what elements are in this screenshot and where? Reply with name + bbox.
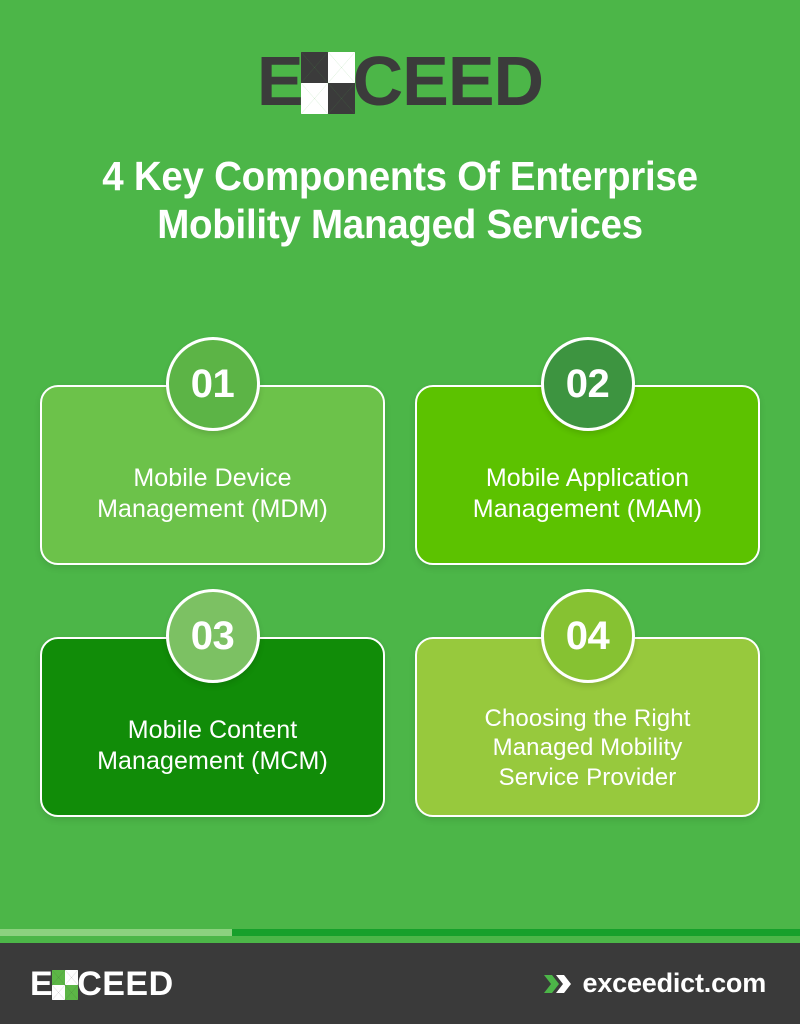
- footer-brand-logo[interactable]: E: [30, 967, 174, 1001]
- header: E: [0, 0, 800, 145]
- brand-logo: E: [257, 46, 543, 116]
- component-card-04[interactable]: Choosing the Right Managed Mobility Serv…: [415, 589, 760, 817]
- brand-logo-text-after: CEED: [353, 46, 543, 116]
- card-number-02: 02: [566, 364, 610, 404]
- card-number-01: 01: [191, 364, 235, 404]
- x-facet-icon: [301, 52, 355, 114]
- brand-logo-text-before: E: [257, 46, 303, 116]
- card-badge-04: 04: [541, 589, 635, 683]
- card-label-03: Mobile Content Management (MCM): [97, 715, 328, 776]
- double-chevron-right-icon: [543, 972, 571, 996]
- card-label-04: Choosing the Right Managed Mobility Serv…: [485, 704, 691, 792]
- footer-website-link[interactable]: exceedict.com: [543, 970, 767, 997]
- component-card-03[interactable]: Mobile Content Management (MCM) 03: [40, 589, 385, 817]
- card-label-01: Mobile Device Management (MDM): [97, 463, 328, 524]
- components-grid: Mobile Device Management (MDM) 01 Mobile…: [0, 337, 800, 817]
- card-number-04: 04: [566, 616, 610, 656]
- footer-bar: E: [0, 943, 800, 1024]
- card-badge-02: 02: [541, 337, 635, 431]
- accent-strip: [0, 929, 800, 936]
- card-badge-01: 01: [166, 337, 260, 431]
- page-title-line-1: 4 Key Components Of Enterprise: [41, 153, 759, 201]
- accent-strip-left: [0, 929, 232, 936]
- footer-website-text: exceedict.com: [583, 970, 767, 997]
- infographic-poster: E: [0, 0, 800, 1024]
- x-facet-icon: [52, 970, 78, 1000]
- component-card-01[interactable]: Mobile Device Management (MDM) 01: [40, 337, 385, 565]
- accent-strip-right: [232, 929, 800, 936]
- component-card-02[interactable]: Mobile Application Management (MAM) 02: [415, 337, 760, 565]
- page-title-line-2: Mobility Managed Services: [41, 201, 759, 249]
- card-label-02: Mobile Application Management (MAM): [473, 463, 702, 524]
- card-number-03: 03: [191, 616, 235, 656]
- footer-logo-text-after: CEED: [77, 967, 173, 1001]
- card-badge-03: 03: [166, 589, 260, 683]
- footer-logo-text-before: E: [30, 967, 53, 1001]
- page-title: 4 Key Components Of Enterprise Mobility …: [0, 145, 800, 249]
